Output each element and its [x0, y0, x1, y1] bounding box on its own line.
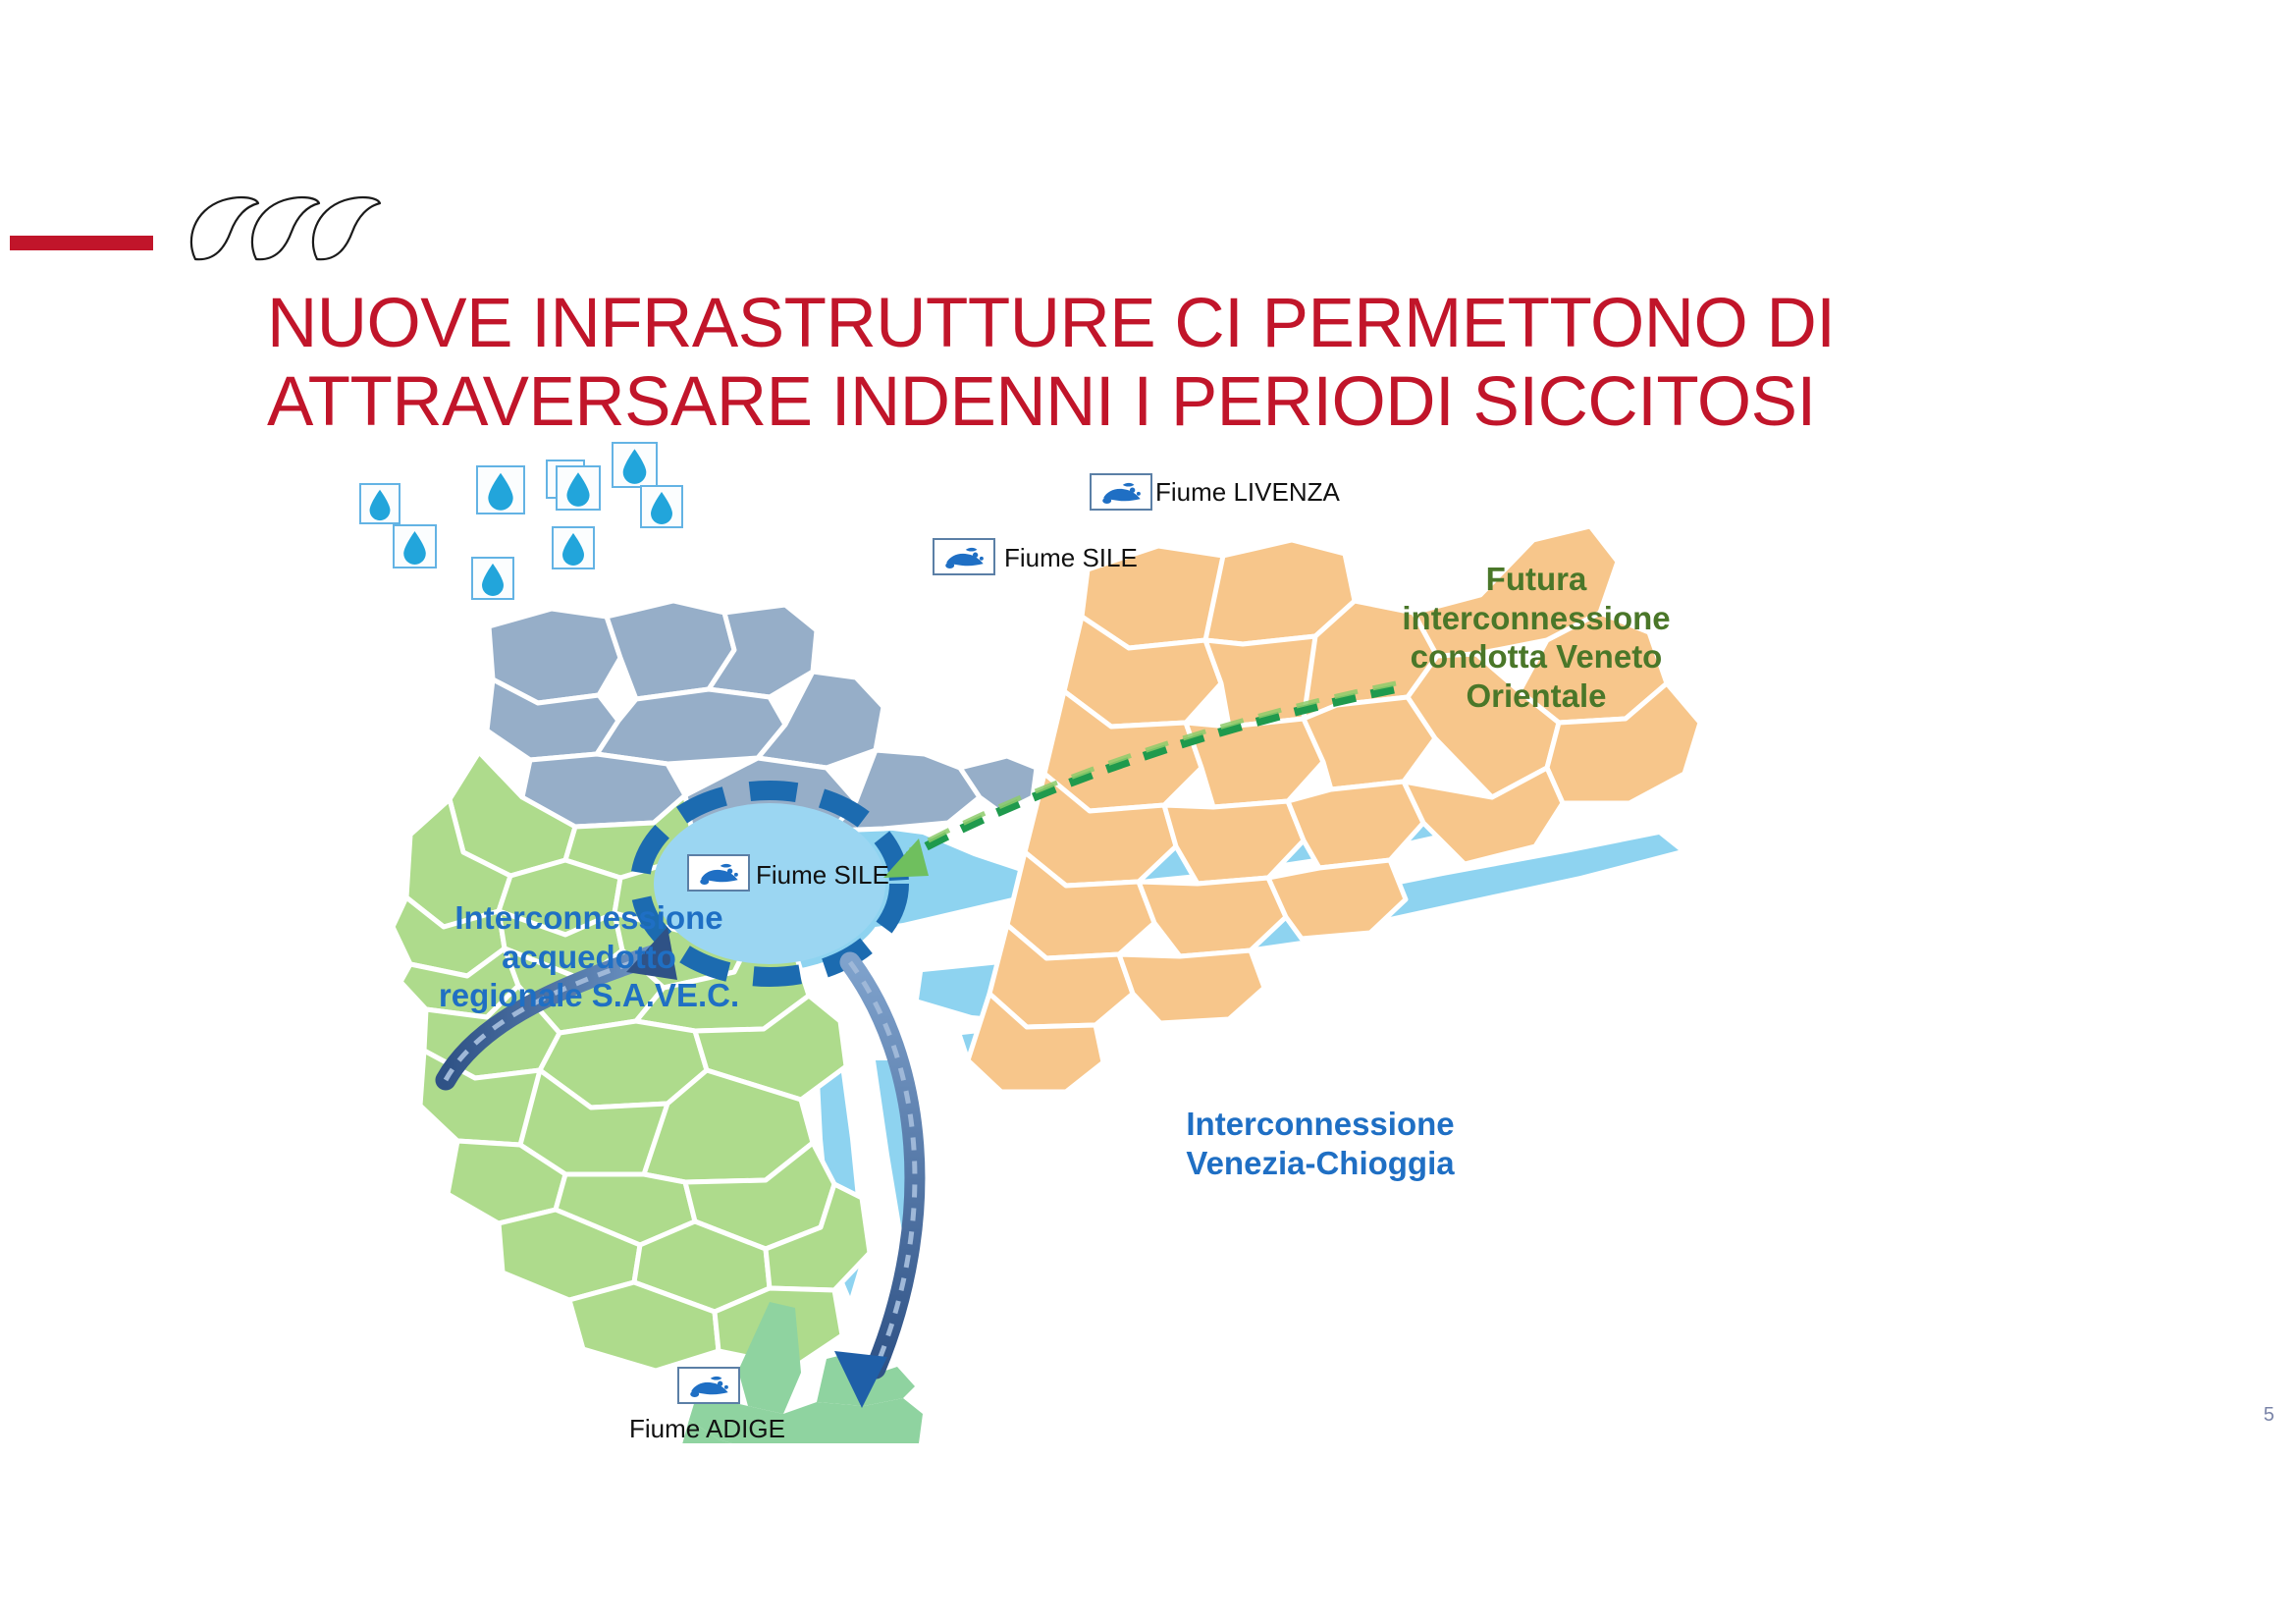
three-wave-logo [182, 194, 393, 263]
water-drop-icon-3 [359, 483, 400, 524]
river-fish-icon-livenza [1090, 473, 1152, 511]
water-drop-icon-8 [552, 526, 595, 569]
water-drop-icon-9 [471, 557, 514, 600]
river-label-livenza: Fiume LIVENZA [1155, 477, 1340, 508]
water-drop-icon-5 [556, 465, 601, 511]
river-label-sile-venezia: Fiume SILE [756, 860, 889, 891]
header-accent-bar [10, 236, 153, 250]
river-label-adige: Fiume ADIGE [629, 1414, 785, 1444]
water-drop-icon-7 [393, 524, 437, 568]
water-drop-icon-2 [612, 442, 658, 488]
river-fish-icon-sile-east [933, 538, 995, 575]
river-label-sile-east: Fiume SILE [1004, 543, 1138, 573]
callout-interconnessione-venezia-chioggia: Interconnessione Venezia-Chioggia [1158, 1105, 1482, 1182]
callout-futura-interconnessione: Futura interconnessione condotta Veneto … [1360, 560, 1713, 715]
callout-interconnessione-savec: Interconnessione acquedotto regionale S.… [412, 898, 766, 1015]
water-drop-icon-6 [640, 485, 683, 528]
region-north-bluegrey [487, 601, 1037, 839]
water-drop-icon-4 [476, 465, 525, 514]
river-fish-icon-adige [677, 1367, 740, 1404]
page-title: NUOVE INFRASTRUTTURE CI PERMETTONO DI AT… [267, 285, 2034, 441]
river-fish-icon-sile-venezia [687, 854, 750, 892]
page-number: 5 [2264, 1404, 2274, 1427]
